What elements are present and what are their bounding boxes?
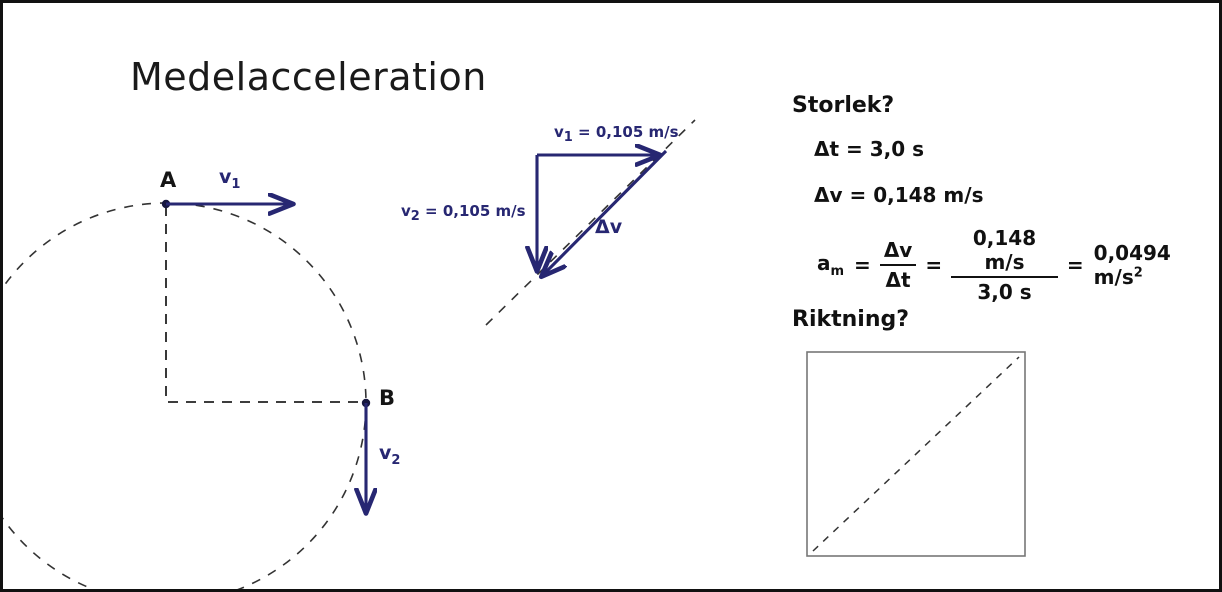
am-base: a xyxy=(817,251,831,275)
delta-v-arrow xyxy=(543,151,666,275)
v1-triangle-value: = 0,105 m/s xyxy=(573,123,679,141)
v1-label-circle: v1 xyxy=(219,168,240,191)
delta-v-line: Δv = 0,148 m/s xyxy=(814,185,983,205)
acceleration-equation: am = Δv Δt = 0,148 m/s 3,0 s = 0,0494 m/… xyxy=(812,225,1219,305)
am-sub: m xyxy=(831,264,845,279)
fraction-numeric: 0,148 m/s 3,0 s xyxy=(947,225,1062,305)
v1-triangle-sub: 1 xyxy=(564,130,573,145)
radius-guide-lines xyxy=(166,206,364,402)
am-symbol: am xyxy=(812,251,849,279)
point-b-label: B xyxy=(379,388,395,409)
acceleration-result-value: 0,0494 m/s xyxy=(1094,241,1171,289)
slide-canvas: Medelacceleration A B v1 v2 v1 = 0,105 m… xyxy=(0,0,1222,592)
v2-triangle-sub: 2 xyxy=(411,209,420,224)
acceleration-result: 0,0494 m/s2 xyxy=(1089,241,1219,289)
v2-label-circle-sub: 2 xyxy=(391,453,400,468)
page-title: Medelacceleration xyxy=(130,58,487,96)
fraction-numeric-bar xyxy=(951,276,1058,278)
v2-label-triangle: v2 = 0,105 m/s xyxy=(401,204,526,223)
fraction-symbolic-denominator: Δt xyxy=(882,267,915,293)
equals-3: = xyxy=(1062,253,1089,277)
equals-2: = xyxy=(920,253,947,277)
v2-label-circle: v2 xyxy=(379,444,400,467)
acceleration-result-exponent: 2 xyxy=(1134,265,1143,280)
fraction-symbolic-bar xyxy=(880,264,917,266)
v1-label-circle-sub: 1 xyxy=(231,177,240,192)
v1-triangle-symbol: v xyxy=(554,123,564,141)
v1-label-circle-text: v xyxy=(219,166,231,188)
v2-triangle-symbol: v xyxy=(401,202,411,220)
point-a-label: A xyxy=(160,170,176,191)
riktning-heading: Riktning? xyxy=(792,309,909,331)
fraction-symbolic-numerator: Δv xyxy=(880,237,917,263)
v1-label-triangle: v1 = 0,105 m/s xyxy=(554,125,679,144)
trajectory-circle xyxy=(3,203,366,592)
fraction-symbolic: Δv Δt xyxy=(876,237,921,293)
storlek-heading: Storlek? xyxy=(792,95,894,117)
delta-v-label: Δv xyxy=(595,218,622,237)
v2-label-circle-text: v xyxy=(379,442,391,464)
fraction-numeric-numerator: 0,148 m/s xyxy=(951,225,1058,275)
equals-1: = xyxy=(849,253,876,277)
v2-triangle-value: = 0,105 m/s xyxy=(420,202,526,220)
delta-t-line: Δt = 3,0 s xyxy=(814,139,924,159)
fraction-numeric-denominator: 3,0 s xyxy=(973,279,1035,305)
